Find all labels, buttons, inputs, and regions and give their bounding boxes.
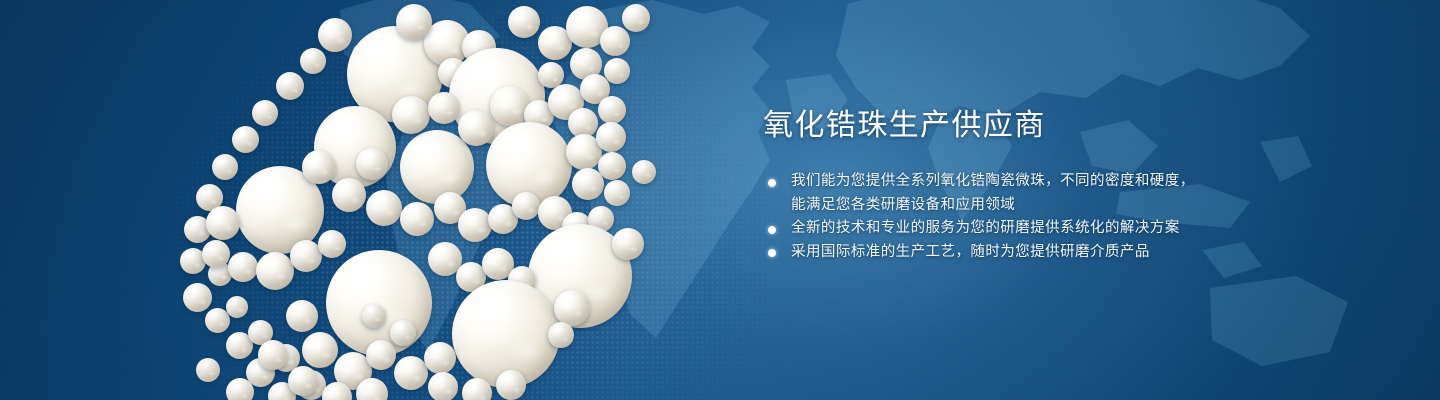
vignette-overlay (0, 0, 1440, 400)
hero-banner: 氧化锆珠生产供应商 我们能为您提供全系列氧化锆陶瓷微珠，不同的密度和硬度， 能满… (0, 0, 1440, 400)
